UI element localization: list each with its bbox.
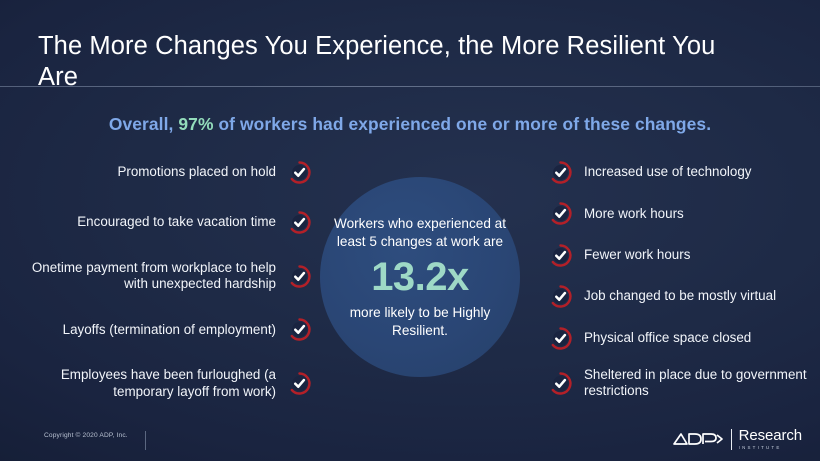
list-item-label: Onetime payment from workplace to help w… bbox=[22, 260, 276, 293]
list-item: Layoffs (termination of employment) bbox=[22, 317, 312, 342]
brand-lockup: Research INSTITUTE bbox=[672, 428, 802, 450]
list-item: Encouraged to take vacation time bbox=[22, 210, 312, 235]
list-item: Employees have been furloughed (a tempor… bbox=[22, 367, 312, 400]
brand-subtitle: INSTITUTE bbox=[739, 446, 802, 450]
list-item-label: Job changed to be mostly virtual bbox=[584, 288, 776, 305]
brand-text: Research INSTITUTE bbox=[739, 428, 802, 450]
callout-statistic: 13.2x bbox=[371, 253, 469, 301]
list-item-label: Encouraged to take vacation time bbox=[77, 214, 276, 231]
brand-name: Research bbox=[739, 428, 802, 443]
statistic-callout-circle: Workers who experienced at least 5 chang… bbox=[320, 177, 520, 377]
list-item-label: Increased use of technology bbox=[584, 164, 752, 181]
list-item: Increased use of technology bbox=[548, 160, 816, 185]
check-circle-icon bbox=[548, 326, 573, 351]
slide-canvas: The More Changes You Experience, the Mor… bbox=[0, 0, 820, 461]
list-item-label: Employees have been furloughed (a tempor… bbox=[22, 367, 276, 400]
check-circle-icon bbox=[548, 160, 573, 185]
list-item-label: Promotions placed on hold bbox=[117, 164, 276, 181]
page-title: The More Changes You Experience, the Mor… bbox=[38, 31, 738, 93]
list-item: Job changed to be mostly virtual bbox=[548, 284, 816, 309]
check-circle-icon bbox=[548, 243, 573, 268]
adp-logo-icon bbox=[672, 428, 724, 450]
header-divider bbox=[0, 86, 820, 87]
list-item: Onetime payment from workplace to help w… bbox=[22, 260, 312, 293]
check-circle-icon bbox=[287, 210, 312, 235]
list-item-label: Physical office space closed bbox=[584, 330, 751, 347]
list-item: Sheltered in place due to government res… bbox=[548, 367, 816, 400]
list-item-label: Sheltered in place due to government res… bbox=[584, 367, 816, 400]
subtitle-rest: of workers had experienced one or more o… bbox=[214, 114, 712, 134]
right-change-list: Increased use of technology More work ho… bbox=[548, 160, 816, 400]
check-circle-icon bbox=[548, 284, 573, 309]
check-circle-icon bbox=[548, 201, 573, 226]
brand-separator bbox=[731, 429, 732, 450]
list-item-label: Layoffs (termination of employment) bbox=[63, 322, 276, 339]
subtitle-lead: Overall, bbox=[109, 114, 179, 134]
list-item-label: More work hours bbox=[584, 206, 684, 223]
left-change-list: Promotions placed on hold Encouraged to … bbox=[22, 160, 312, 400]
check-circle-icon bbox=[287, 371, 312, 396]
list-item-label: Fewer work hours bbox=[584, 247, 690, 264]
check-circle-icon bbox=[548, 371, 573, 396]
check-circle-icon bbox=[287, 317, 312, 342]
subtitle: Overall, 97% of workers had experienced … bbox=[0, 114, 820, 135]
callout-bottom-text: more likely to be Highly Resilient. bbox=[331, 304, 509, 339]
list-item: Promotions placed on hold bbox=[22, 160, 312, 185]
check-circle-icon bbox=[287, 264, 312, 289]
list-item: Physical office space closed bbox=[548, 326, 816, 351]
footer-divider bbox=[145, 431, 146, 450]
list-item: More work hours bbox=[548, 201, 816, 226]
callout-top-text: Workers who experienced at least 5 chang… bbox=[331, 215, 509, 250]
check-circle-icon bbox=[287, 160, 312, 185]
copyright-text: Copyright © 2020 ADP, Inc. bbox=[44, 432, 128, 439]
list-item: Fewer work hours bbox=[548, 243, 816, 268]
subtitle-percent: 97% bbox=[178, 114, 213, 134]
